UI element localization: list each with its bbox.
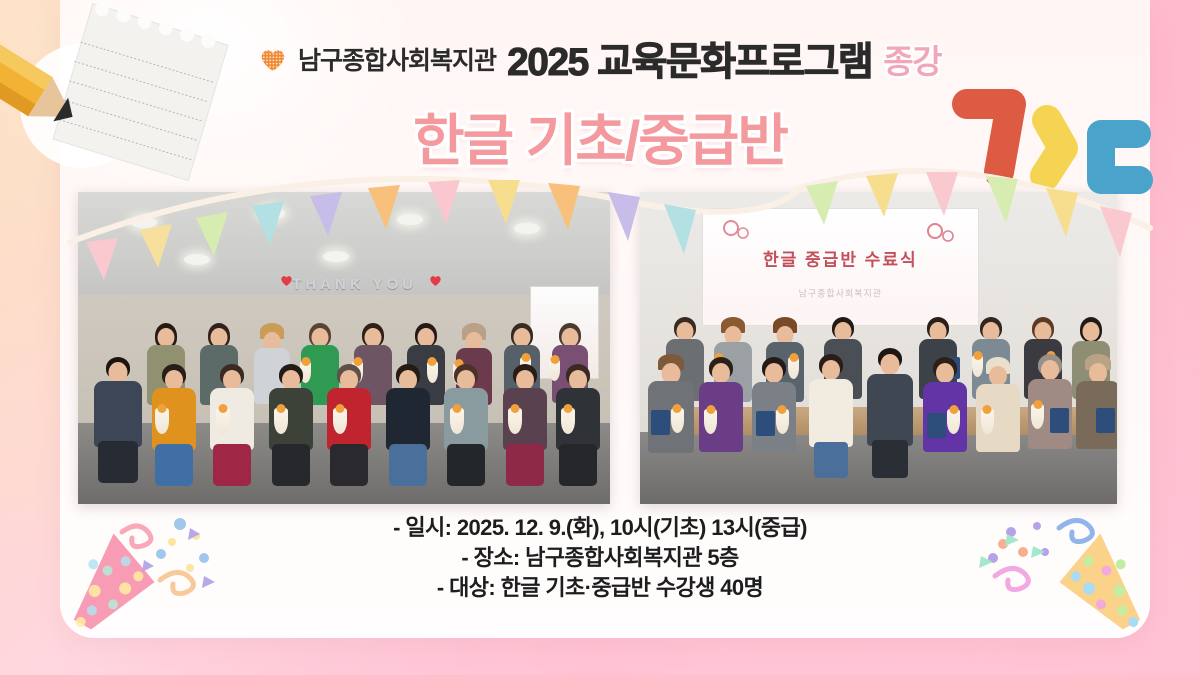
- detail-location: - 장소: 남구종합사회복지관 5층: [0, 543, 1200, 573]
- detail-participants: - 대상: 한글 기초·중급반 수강생 40명: [0, 573, 1200, 603]
- stationery-decoration: [0, 0, 290, 204]
- photo-group-classroom: THANK YOU: [78, 192, 610, 504]
- photo-graduation-ceremony: 한글 중급반 수료식 남구종합사회복지관: [640, 192, 1117, 504]
- ceremony-banner-subtitle: 남구종합사회복지관: [799, 286, 883, 299]
- ceremony-banner-title: 한글 중급반 수료식: [763, 245, 918, 270]
- ceremony-scene: 한글 중급반 수료식 남구종합사회복지관: [640, 192, 1117, 504]
- year-program-label: 2025 교육문화프로그램: [507, 31, 872, 87]
- event-details: - 일시: 2025. 12. 9.(화), 10시(기초) 13시(중급) -…: [0, 513, 1200, 603]
- organization-name: 남구종합사회복지관: [298, 41, 496, 77]
- detail-datetime: - 일시: 2025. 12. 9.(화), 10시(기초) 13시(중급): [0, 513, 1200, 543]
- status-badge: 종강: [883, 35, 941, 83]
- event-poster: 남구종합사회복지관 2025 교육문화프로그램 종강 한글 기초/중급반: [0, 0, 1200, 675]
- thank-you-balloons: THANK YOU: [292, 276, 417, 293]
- ceremony-banner: 한글 중급반 수료식 남구종합사회복지관: [702, 208, 979, 327]
- classroom-scene: THANK YOU: [78, 192, 610, 504]
